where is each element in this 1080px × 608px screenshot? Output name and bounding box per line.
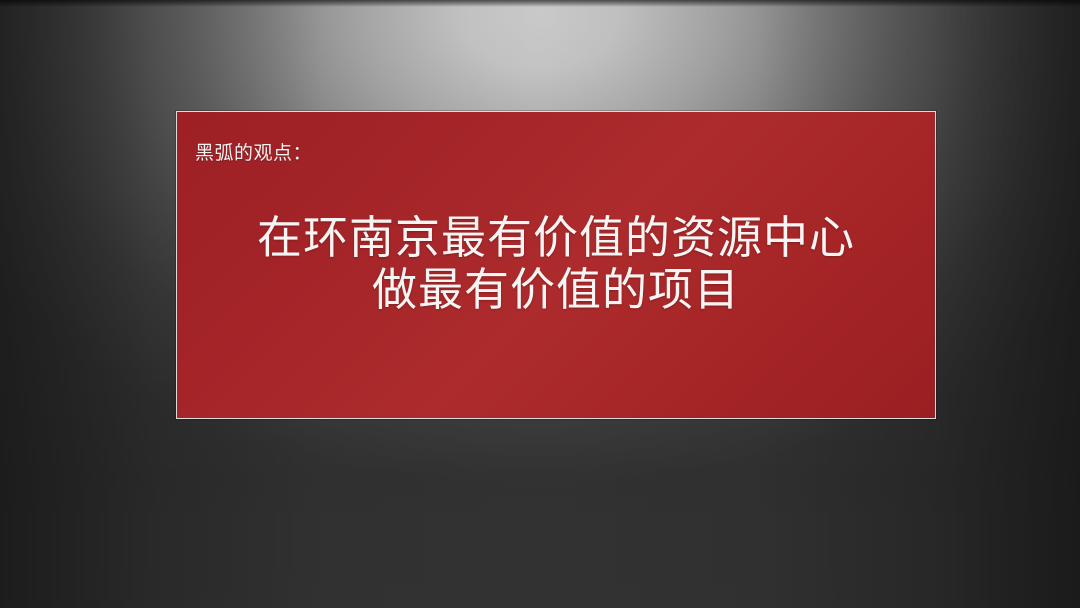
background-top-edge-shadow bbox=[0, 0, 1080, 7]
presentation-slide: 黑弧的观点： 在环南京最有价值的资源中心 做最有价值的项目 bbox=[0, 0, 1080, 608]
headline-line-2: 做最有价值的项目 bbox=[177, 264, 935, 316]
panel-content: 黑弧的观点： 在环南京最有价值的资源中心 做最有价值的项目 bbox=[177, 112, 935, 418]
red-content-panel: 黑弧的观点： 在环南京最有价值的资源中心 做最有价值的项目 bbox=[176, 111, 936, 419]
panel-eyebrow-label: 黑弧的观点： bbox=[195, 141, 312, 165]
panel-headline: 在环南京最有价值的资源中心 做最有价值的项目 bbox=[177, 212, 935, 316]
headline-line-1: 在环南京最有价值的资源中心 bbox=[177, 212, 935, 264]
